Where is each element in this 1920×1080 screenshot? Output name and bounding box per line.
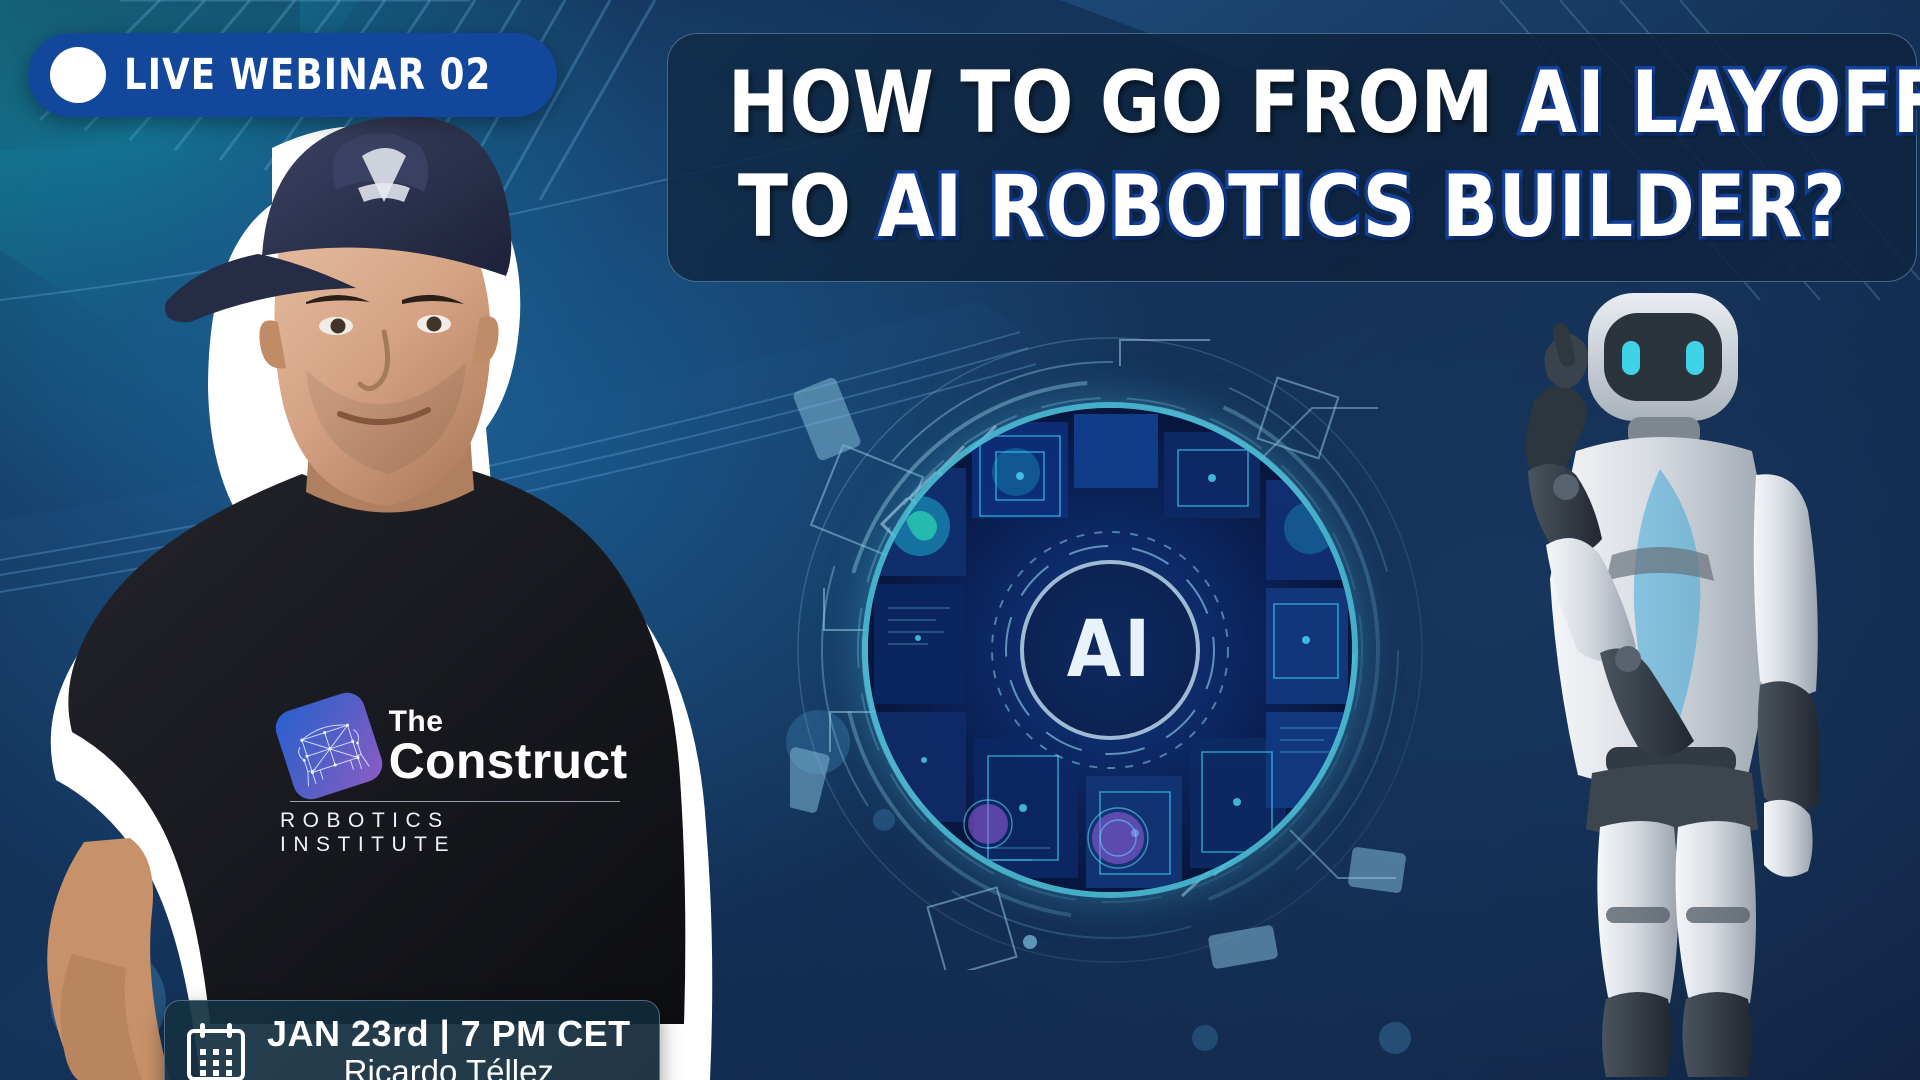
headline-l1-plain: HOW TO GO FROM [728, 53, 1520, 153]
brand-name: Construct [389, 738, 628, 784]
headline-l2-highlight: AI ROBOTICS BUILDER? [877, 157, 1846, 257]
construct-brand-logo: The Construct ROBOTICS INSTITUTE [280, 700, 630, 857]
brand-subtitle: ROBOTICS INSTITUTE [280, 809, 630, 857]
armchair-wireframe-logo-icon [271, 688, 387, 804]
event-speaker: Ricardo Téllez [344, 1053, 554, 1080]
live-dot-icon [50, 47, 106, 103]
headline-panel: HOW TO GO FROM AI LAYOFF TO AI ROBOTICS … [667, 33, 1917, 282]
brand-divider [290, 801, 620, 802]
ai-collage-core: AI [868, 408, 1352, 892]
headline-line-1: HOW TO GO FROM AI LAYOFF [728, 60, 1857, 148]
robot-head [1588, 293, 1738, 447]
live-webinar-label: LIVE WEBINAR 02 [124, 50, 491, 100]
headline-l2-plain: TO [738, 157, 878, 257]
event-datetime: JAN 23rd | 7 PM CET [267, 1013, 631, 1055]
robot-legs [1586, 764, 1758, 1077]
ai-hub-graphic: AI [790, 330, 1430, 970]
ai-center-badge: AI [1020, 560, 1200, 740]
robot-arm-side [1754, 474, 1821, 877]
brand-the: The [389, 708, 628, 736]
speaker-portrait-cutout [10, 70, 730, 1080]
headline-line-2: TO AI ROBOTICS BUILDER? [728, 164, 1857, 252]
event-date-badge[interactable]: JAN 23rd | 7 PM CET Ricardo Téllez [164, 1000, 660, 1080]
humanoid-robot-graphic [1360, 255, 1920, 1080]
ai-center-label: AI [1067, 605, 1153, 695]
calendar-icon [185, 1021, 247, 1080]
webinar-poster: AI [0, 0, 1920, 1080]
headline-l1-highlight: AI LAYOFF [1520, 53, 1920, 153]
live-webinar-badge[interactable]: LIVE WEBINAR 02 [28, 33, 557, 117]
